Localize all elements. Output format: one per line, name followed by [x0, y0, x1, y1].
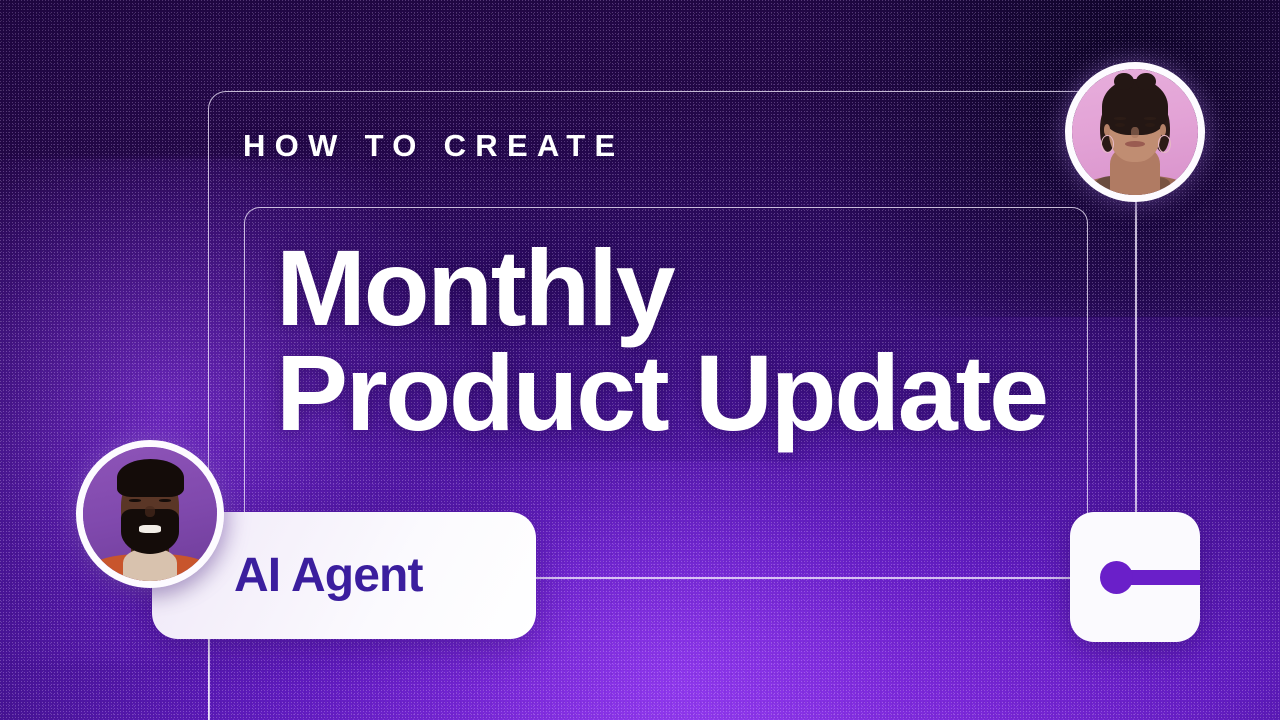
ai-agent-badge-label: AI Agent [234, 552, 423, 600]
slide-canvas: HOW TO CREATE Monthly Product Update AI … [0, 0, 1280, 720]
avatar-top-right [1065, 62, 1205, 202]
avatar-bottom-left-portrait [83, 447, 217, 581]
avatar-bottom-left [76, 440, 224, 588]
brand-logo-mark[interactable] [1070, 512, 1200, 642]
logo-dot-shape [1100, 561, 1133, 594]
page-title: Monthly Product Update [276, 236, 1106, 446]
connector-line-to-logo [534, 577, 1072, 579]
avatar-top-right-portrait [1072, 69, 1198, 195]
eyebrow-text: HOW TO CREATE [243, 130, 625, 161]
connector-line-left-bottom [208, 639, 210, 720]
